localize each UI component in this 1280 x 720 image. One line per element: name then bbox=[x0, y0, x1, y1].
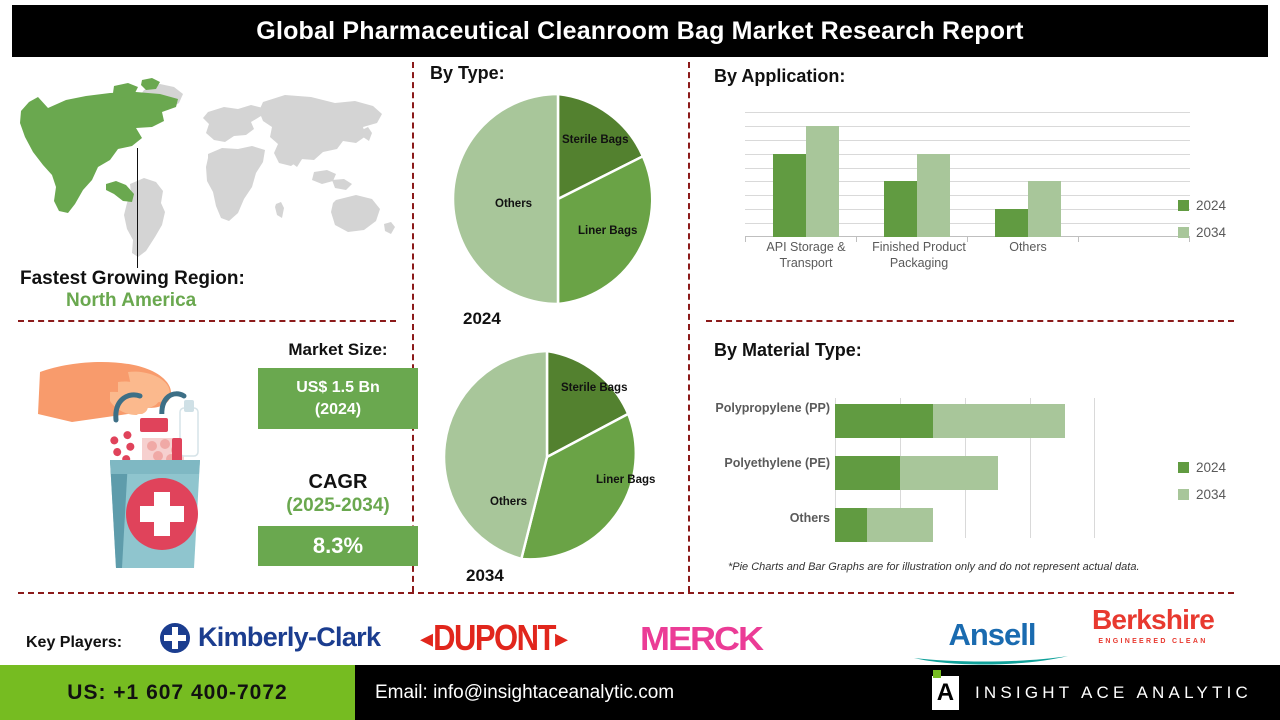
pie-2034-label-liner: Liner Bags bbox=[596, 474, 655, 486]
market-size-value: US$ 1.5 Bn bbox=[262, 377, 414, 399]
application-legend: 2024 2034 bbox=[1178, 198, 1226, 252]
by-material-type-heading: By Material Type: bbox=[714, 340, 862, 361]
dupont-text: DUPONT bbox=[433, 617, 555, 659]
pie-2024-label-sterile: Sterile Bags bbox=[562, 134, 628, 146]
hbar-pe-2024 bbox=[835, 456, 900, 490]
map-leader-line bbox=[137, 148, 138, 268]
footer-phone-box[interactable]: US: +1 607 400-7072 bbox=[0, 665, 355, 720]
material-legend: 2024 2034 bbox=[1178, 460, 1226, 514]
application-bar-chart bbox=[745, 112, 1190, 237]
divider-horizontal-right bbox=[706, 320, 1234, 322]
market-size-year: (2024) bbox=[262, 399, 414, 421]
fastest-growing-region-value: North America bbox=[66, 290, 400, 313]
key-players-label: Key Players: bbox=[26, 634, 122, 652]
fastest-growing-region-label: Fastest Growing Region: bbox=[20, 268, 400, 290]
legend-swatch-2024 bbox=[1178, 200, 1189, 211]
mat-label-pe: Polyethylene (PE) bbox=[690, 456, 830, 472]
hbar-polypropylene bbox=[835, 404, 1065, 438]
footer-email[interactable]: Email: info@insightaceanalytic.com bbox=[375, 665, 674, 720]
legend-swatch-2024 bbox=[1178, 462, 1189, 473]
pharmacy-bag-illustration bbox=[32, 352, 257, 587]
bar-finished-2034 bbox=[917, 154, 950, 237]
divider-horizontal-left bbox=[18, 320, 396, 322]
pie-2024-label-others: Others bbox=[495, 198, 532, 210]
pie-2034-label-sterile: Sterile Bags bbox=[561, 382, 627, 394]
logo-kimberly-clark: Kimberly-Clark bbox=[160, 622, 380, 653]
material-bar-chart bbox=[835, 398, 1095, 538]
hbar-pp-2024 bbox=[835, 404, 933, 438]
pie-2034-label-others: Others bbox=[490, 496, 527, 508]
bar-others-2024 bbox=[995, 209, 1028, 237]
legend-item-2024: 2024 bbox=[1178, 460, 1226, 475]
kimberly-clark-icon bbox=[160, 623, 190, 653]
berkshire-text: Berkshire bbox=[1092, 606, 1214, 634]
mat-label-others: Others bbox=[690, 511, 830, 527]
logo-dupont: ◂ DUPONT ▸ bbox=[420, 620, 568, 656]
legend-label-2034: 2034 bbox=[1196, 487, 1226, 502]
by-application-heading: By Application: bbox=[714, 66, 845, 87]
cat-label-others: Others bbox=[967, 240, 1089, 256]
infographic-page: Global Pharmaceutical Cleanroom Bag Mark… bbox=[0, 0, 1280, 720]
gridline bbox=[745, 112, 1190, 113]
cat-label-finished: Finished Product Packaging bbox=[858, 240, 980, 271]
mat-label-pp: Polypropylene (PP) bbox=[690, 401, 830, 417]
legend-item-2034: 2034 bbox=[1178, 225, 1226, 240]
page-title: Global Pharmaceutical Cleanroom Bag Mark… bbox=[256, 17, 1023, 46]
brand-dot-icon bbox=[933, 670, 941, 678]
hbar-others bbox=[835, 508, 933, 542]
brand-letter: A bbox=[937, 679, 954, 707]
berkshire-tagline: ENGINEERED CLEAN bbox=[1092, 638, 1214, 645]
hbar-others-2034 bbox=[867, 508, 933, 542]
bar-finished-2024 bbox=[884, 181, 917, 237]
cagr-title: CAGR bbox=[258, 471, 418, 494]
cat-label-api: API Storage & Transport bbox=[745, 240, 867, 271]
hbar-polyethylene bbox=[835, 456, 998, 490]
footer-phone: US: +1 607 400-7072 bbox=[67, 681, 287, 705]
brand-name: INSIGHT ACE ANALYTIC bbox=[975, 683, 1252, 703]
pie-2024-year: 2024 bbox=[463, 309, 501, 329]
by-type-heading: By Type: bbox=[430, 63, 505, 84]
hbar-pp-2034 bbox=[933, 404, 1065, 438]
pie-2024-label-liner: Liner Bags bbox=[578, 225, 637, 237]
legend-label-2024: 2024 bbox=[1196, 460, 1226, 475]
market-size-value-box: US$ 1.5 Bn (2024) bbox=[258, 368, 418, 429]
kimberly-clark-text: Kimberly-Clark bbox=[198, 622, 380, 653]
material-category-labels: Polypropylene (PP) Polyethylene (PE) Oth… bbox=[690, 398, 830, 538]
legend-item-2034: 2034 bbox=[1178, 487, 1226, 502]
legend-label-2034: 2034 bbox=[1196, 225, 1226, 240]
application-category-labels: API Storage & Transport Finished Product… bbox=[745, 240, 1190, 282]
bar-others-2034 bbox=[1028, 181, 1061, 237]
market-size-title: Market Size: bbox=[258, 340, 418, 360]
cagr-years: (2025-2034) bbox=[258, 494, 418, 518]
pie-chart-2024 bbox=[447, 88, 669, 310]
chart-disclaimer: *Pie Charts and Bar Graphs are for illus… bbox=[728, 561, 1140, 573]
bar-api-2024 bbox=[773, 154, 806, 237]
page-title-bar: Global Pharmaceutical Cleanroom Bag Mark… bbox=[12, 5, 1268, 57]
legend-swatch-2034 bbox=[1178, 227, 1189, 238]
legend-item-2024: 2024 bbox=[1178, 198, 1226, 213]
dupont-left-arrow-icon: ◂ bbox=[420, 623, 433, 654]
logo-berkshire: Berkshire ENGINEERED CLEAN bbox=[1092, 606, 1214, 645]
hbar-pe-2034 bbox=[900, 456, 998, 490]
logo-merck: MERCK bbox=[640, 618, 762, 660]
pie-chart-2034 bbox=[435, 345, 659, 569]
logo-ansell: Ansell bbox=[912, 617, 1072, 671]
bar-api-2034 bbox=[806, 126, 839, 237]
legend-label-2024: 2024 bbox=[1196, 198, 1226, 213]
footer-brand: A INSIGHT ACE ANALYTIC bbox=[932, 665, 1252, 720]
brand-logo-icon: A bbox=[932, 676, 959, 710]
pie-2034-year: 2034 bbox=[466, 566, 504, 586]
dupont-right-arrow-icon: ▸ bbox=[555, 623, 568, 654]
ansell-text: Ansell bbox=[912, 617, 1072, 653]
merck-text: MERCK bbox=[640, 620, 762, 659]
fastest-growing-region: Fastest Growing Region: North America bbox=[20, 268, 400, 313]
hbar-others-2024 bbox=[835, 508, 867, 542]
gridline-vertical bbox=[1094, 398, 1095, 538]
cagr-value-box: 8.3% bbox=[258, 526, 418, 566]
cagr-value: 8.3% bbox=[313, 533, 363, 558]
legend-swatch-2034 bbox=[1178, 489, 1189, 500]
footer-bar: US: +1 607 400-7072 Email: info@insighta… bbox=[0, 665, 1280, 720]
world-map bbox=[18, 72, 408, 262]
divider-horizontal-bottom bbox=[18, 592, 1234, 594]
market-size-block: Market Size: US$ 1.5 Bn (2024) CAGR (202… bbox=[258, 340, 418, 566]
